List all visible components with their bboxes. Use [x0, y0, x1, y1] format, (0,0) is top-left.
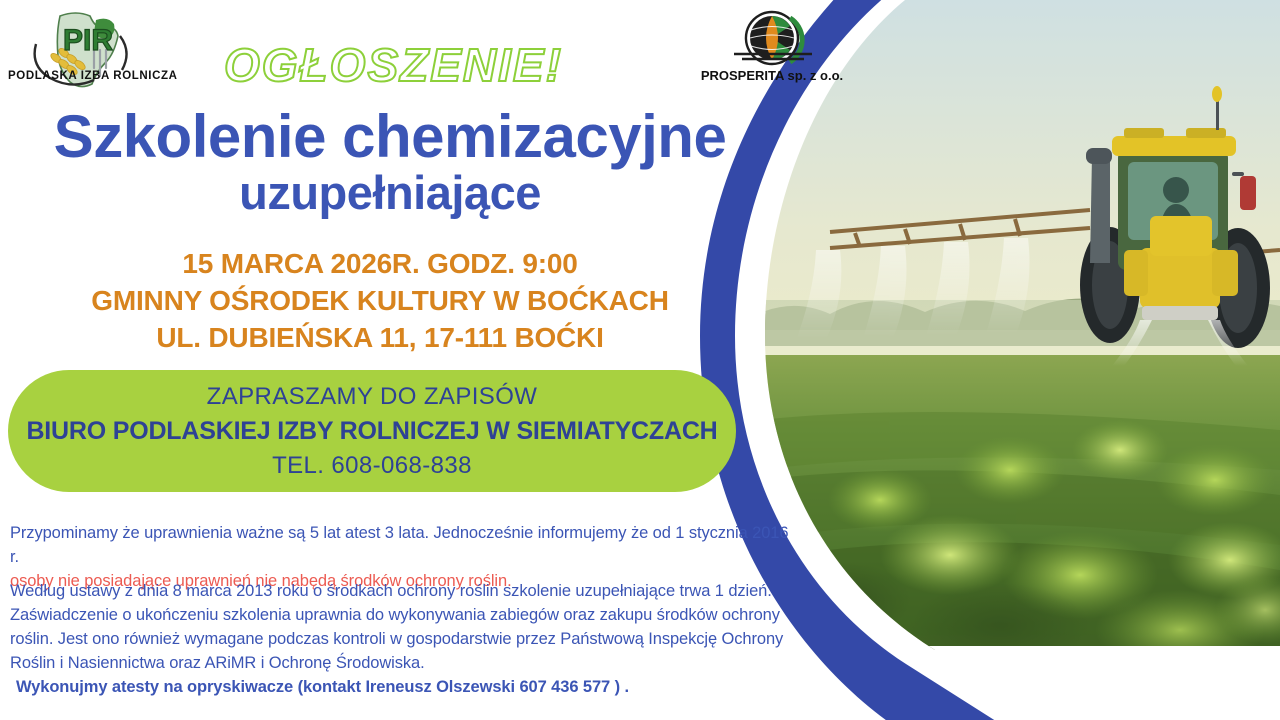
event-details: 15 MARCA 2026R. GODZ. 9:00 GMINNY OŚRODE…: [0, 246, 760, 357]
prosperita-logo: PROSPERITA sp. z o.o.: [672, 8, 872, 90]
page-title: Szkolenie chemizacyjne uzupełniające: [0, 108, 780, 215]
kicker-headline: OGŁOSZENIE!: [224, 38, 563, 92]
event-datetime: 15 MARCA 2026R. GODZ. 9:00: [0, 246, 760, 283]
sprayer-test-note: Wykonujmy atesty na opryskiwacze (kontak…: [16, 676, 806, 700]
title-line-1: Szkolenie chemizacyjne: [0, 108, 780, 166]
registration-phone: TEL. 608-068-838: [272, 452, 472, 480]
poster-canvas: PIR PODLASKA IZBA ROLNICZA P: [0, 0, 1280, 720]
prosperita-logo-caption: PROSPERITA sp. z o.o.: [672, 68, 872, 83]
notice-paragraph-2: Według ustawy z dnia 8 marca 2013 roku o…: [10, 580, 800, 676]
pir-logo-caption: PODLASKA IZBA ROLNICZA: [8, 70, 168, 82]
notice-line-validity: Przypominamy że uprawnienia ważne są 5 l…: [10, 524, 788, 566]
registration-contact-box: ZAPRASZAMY DO ZAPISÓW BIURO PODLASKIEJ I…: [8, 370, 736, 492]
registration-office: BIURO PODLASKIEJ IZBY ROLNICZEJ W SIEMIA…: [26, 417, 717, 446]
tractor-photo: [750, 0, 1280, 720]
globe-icon: [672, 8, 872, 70]
event-venue: GMINNY OŚRODEK KULTURY W BOĆKACH: [0, 283, 760, 320]
sprayer-boom: [830, 210, 1090, 248]
registration-invite: ZAPRASZAMY DO ZAPISÓW: [207, 383, 538, 411]
svg-text:PIR: PIR: [63, 24, 113, 57]
event-address: UL. DUBIEŃSKA 11, 17-111 BOĆKI: [0, 320, 760, 357]
pir-logo: PIR PODLASKA IZBA ROLNICZA: [8, 6, 168, 90]
title-line-2: uzupełniające: [0, 170, 780, 215]
tractor-illustration: [1080, 86, 1270, 366]
